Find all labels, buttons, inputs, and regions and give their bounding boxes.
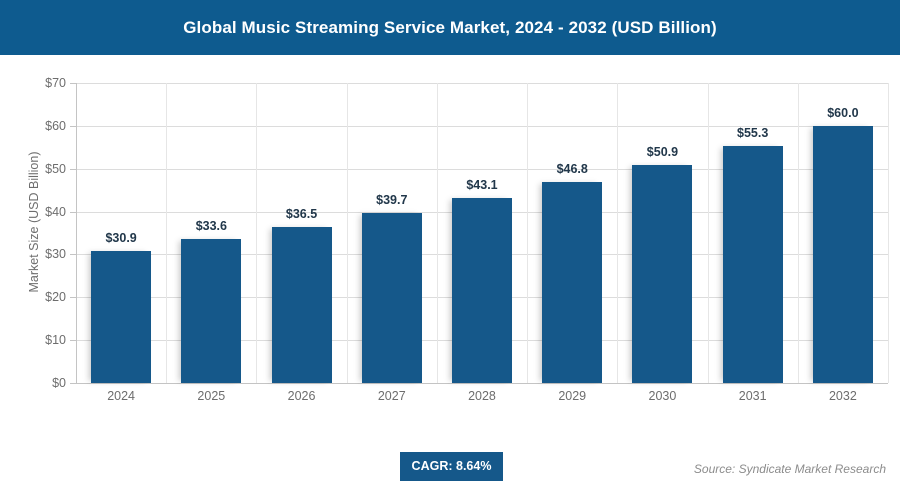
y-axis-tick-label: $70 <box>6 77 66 90</box>
y-axis-tick-mark <box>70 83 76 84</box>
x-axis-tick-label: 2025 <box>197 389 225 403</box>
x-axis-tick-label: 2028 <box>468 389 496 403</box>
y-axis-tick-mark <box>70 340 76 341</box>
y-axis-tick-label: $20 <box>6 291 66 304</box>
y-axis-tick-mark <box>70 126 76 127</box>
x-axis-tick-label: 2030 <box>649 389 677 403</box>
y-axis-ticks: $0$10$20$30$40$50$60$70 <box>76 83 888 383</box>
y-axis-tick-label: $30 <box>6 248 66 261</box>
y-axis-tick-label: $10 <box>6 334 66 347</box>
gridline <box>76 383 888 384</box>
x-axis-tick-label: 2032 <box>829 389 857 403</box>
y-axis-tick-label: $40 <box>6 205 66 218</box>
y-axis-tick-label: $50 <box>6 162 66 175</box>
cagr-badge: CAGR: 8.64% <box>400 452 503 481</box>
y-axis-tick-label: $60 <box>6 120 66 133</box>
x-axis-tick-label: 2027 <box>378 389 406 403</box>
x-axis-tick-label: 2031 <box>739 389 767 403</box>
chart-header-band: Global Music Streaming Service Market, 2… <box>0 0 900 55</box>
chart-page: Global Music Streaming Service Market, 2… <box>0 0 900 500</box>
y-axis-tick-mark <box>70 383 76 384</box>
y-axis-tick-mark <box>70 169 76 170</box>
x-axis-tick-label: 2026 <box>288 389 316 403</box>
source-note: Source: Syndicate Market Research <box>694 462 886 476</box>
category-separator <box>888 83 889 383</box>
y-axis-tick-mark <box>70 212 76 213</box>
page-title: Global Music Streaming Service Market, 2… <box>0 0 900 55</box>
y-axis-title: Market Size (USD Billion) <box>27 102 41 342</box>
x-axis-tick-label: 2024 <box>107 389 135 403</box>
y-axis-tick-label: $0 <box>6 377 66 390</box>
y-axis-tick-mark <box>70 297 76 298</box>
y-axis-tick-mark <box>70 254 76 255</box>
x-axis-tick-label: 2029 <box>558 389 586 403</box>
